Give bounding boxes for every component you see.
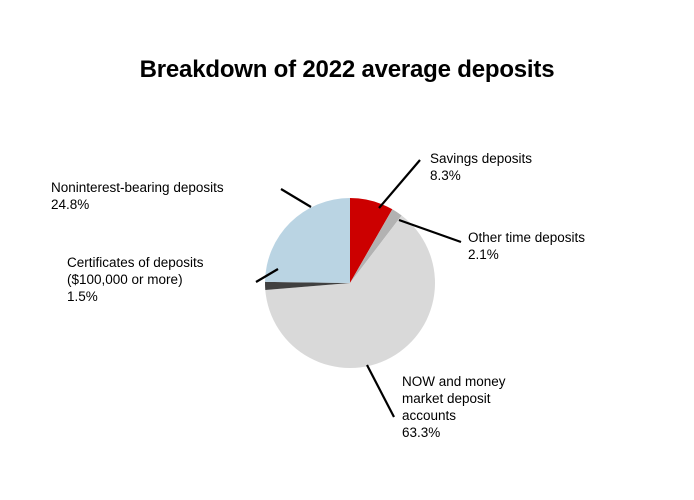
callout-other-time-deposits: Other time deposits 2.1%: [468, 229, 678, 263]
leader-line-now-mmda: [367, 365, 394, 417]
callout-now-and-money-market-deposit-accounts: NOW and money market deposit accounts 63…: [402, 373, 592, 441]
pie-chart-figure: Breakdown of 2022 average deposits Nonin…: [0, 0, 694, 500]
callout-savings-deposits: Savings deposits 8.3%: [430, 150, 630, 184]
callout-certificates-of-deposits: Certificates of deposits ($100,000 or mo…: [67, 254, 297, 305]
leader-line-savings: [379, 160, 420, 208]
callout-noninterest-bearing-deposits: Noninterest-bearing deposits 24.8%: [51, 179, 306, 213]
